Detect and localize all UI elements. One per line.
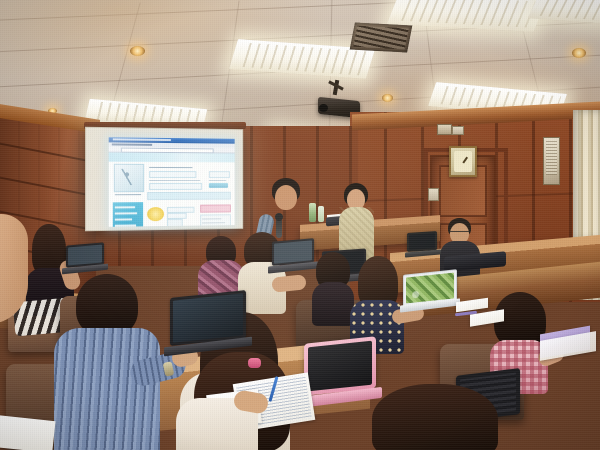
laptop-black[interactable] bbox=[164, 294, 248, 356]
laptop-black[interactable] bbox=[268, 240, 316, 274]
page-sun-graphic bbox=[147, 207, 164, 221]
laptop-screen bbox=[173, 293, 243, 342]
light-switch[interactable] bbox=[428, 188, 439, 201]
paper-stack bbox=[0, 415, 56, 450]
wall-clock-icon bbox=[449, 146, 477, 177]
student-hair bbox=[76, 274, 138, 336]
page-form-field[interactable] bbox=[167, 219, 183, 227]
projected-web-page bbox=[109, 153, 235, 227]
page-logo-icon bbox=[114, 164, 144, 192]
laptop-white[interactable] bbox=[400, 272, 458, 314]
projection-screen bbox=[85, 127, 243, 232]
water-bottle bbox=[318, 206, 324, 222]
page-button[interactable] bbox=[209, 183, 228, 188]
downlight bbox=[382, 94, 393, 102]
photo-scene bbox=[0, 0, 600, 450]
student-hair bbox=[372, 384, 498, 450]
downlight bbox=[130, 46, 145, 56]
page-banner bbox=[109, 153, 235, 163]
wall-speaker-icon bbox=[543, 137, 560, 185]
student-blue-stripe bbox=[54, 274, 164, 450]
air-vent-icon bbox=[350, 22, 413, 52]
hair-tie bbox=[248, 358, 261, 368]
projected-slide bbox=[109, 137, 235, 227]
page-form-field[interactable] bbox=[209, 171, 230, 178]
wall-speaker-icon bbox=[437, 124, 452, 135]
page-button[interactable] bbox=[200, 204, 231, 212]
page-form-field[interactable] bbox=[149, 183, 202, 190]
laptop-black[interactable] bbox=[62, 244, 106, 276]
page-panel bbox=[200, 214, 231, 227]
student-torso bbox=[54, 328, 160, 450]
light-switch[interactable] bbox=[452, 126, 464, 135]
downlight bbox=[572, 48, 586, 58]
page-form-field[interactable] bbox=[149, 171, 196, 178]
student-foreground-right bbox=[372, 384, 502, 450]
page-form-field[interactable] bbox=[147, 192, 231, 200]
laptop-screen bbox=[308, 341, 372, 392]
glasses-icon bbox=[450, 231, 469, 236]
laptop-black[interactable] bbox=[405, 232, 439, 258]
student-writing bbox=[176, 372, 266, 450]
